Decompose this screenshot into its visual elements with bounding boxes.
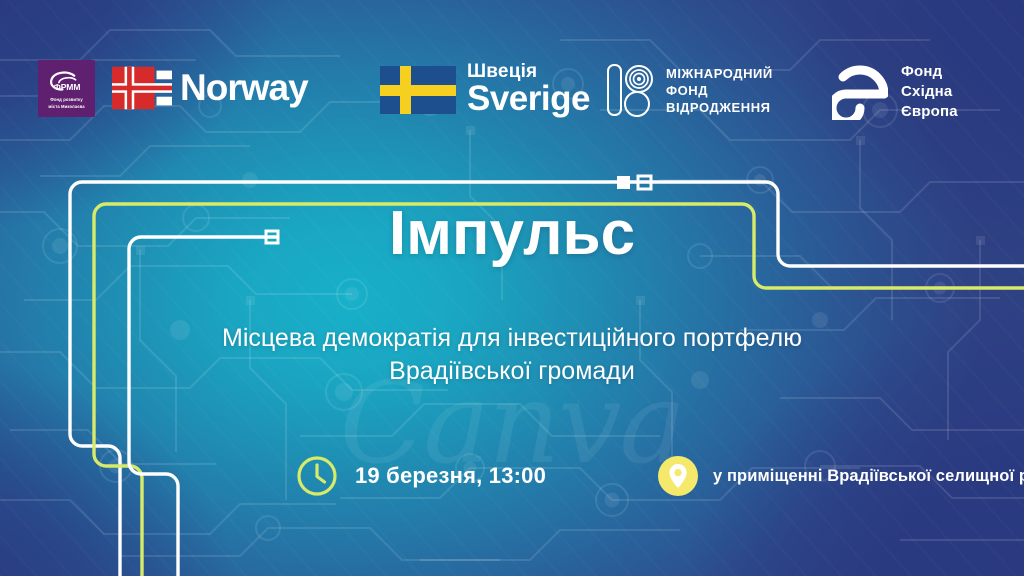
event-date-text: 19 березня, 13:00 xyxy=(355,463,546,489)
east-europe-foundation-logo: Фонд Східна Європа xyxy=(832,62,958,122)
subtitle-line2: Врадіївської громади xyxy=(389,357,635,385)
clock-icon xyxy=(296,455,338,497)
frmm-caption-line1: Фонд розвитку xyxy=(50,97,83,103)
trace-terminal-filled xyxy=(617,176,630,189)
eef-line1: Фонд xyxy=(901,62,958,82)
eef-line3: Європа xyxy=(901,102,958,122)
event-poster: Canva ФРММ Фонд розвитку міста Миколаєва xyxy=(0,0,1024,576)
irf-line3: ВІДРОДЖЕННЯ xyxy=(666,99,773,116)
frmm-logo: ФРММ Фонд розвитку міста Миколаєва xyxy=(38,60,95,117)
norway-logo: Norway xyxy=(112,66,308,110)
trace-white-inner xyxy=(129,237,276,576)
frmm-mark-text: ФРММ xyxy=(53,82,80,92)
irf-line2: ФОНД xyxy=(666,82,773,99)
event-info-row: 19 березня, 13:00 у приміщенні Врадіївсь… xyxy=(0,455,1024,515)
irf-mark-icon xyxy=(606,62,654,118)
sweden-logo: Швеція Sverige xyxy=(380,62,590,117)
norway-flag-icon xyxy=(112,66,172,110)
frmm-logo-box: ФРММ Фонд розвитку міста Миколаєва xyxy=(38,60,95,117)
event-place-text: у приміщенні Врадіївської селищної ради xyxy=(713,467,1024,486)
frmm-caption-line2: міста Миколаєва xyxy=(48,104,84,110)
sweden-flag-icon xyxy=(380,66,456,114)
eef-e-mark-icon xyxy=(832,64,888,120)
norway-wordmark: Norway xyxy=(180,67,308,109)
map-pin-icon xyxy=(657,455,699,497)
subtitle-line1: Місцева демократія для інвестиційного по… xyxy=(222,324,802,352)
irf-line1: МІЖНАРОДНИЙ xyxy=(666,65,773,82)
page-title: Імпульс xyxy=(0,203,1024,265)
frmm-swirl-icon: ФРММ xyxy=(47,70,87,96)
event-date-item: 19 березня, 13:00 xyxy=(296,455,546,497)
sweden-line2: Sverige xyxy=(467,81,590,117)
irf-wordmark: МІЖНАРОДНИЙ ФОНД ВІДРОДЖЕННЯ xyxy=(666,65,773,116)
event-place-item: у приміщенні Врадіївської селищної ради xyxy=(657,455,1024,497)
page-subtitle: Місцева демократія для інвестиційного по… xyxy=(0,322,1024,388)
sweden-wordmark: Швеція Sverige xyxy=(467,62,590,117)
international-renaissance-foundation-logo: МІЖНАРОДНИЙ ФОНД ВІДРОДЖЕННЯ xyxy=(606,62,773,118)
partner-logos-row: ФРММ Фонд розвитку міста Миколаєва Norwa… xyxy=(0,26,1024,106)
eef-line2: Східна xyxy=(901,82,958,102)
eef-wordmark: Фонд Східна Європа xyxy=(901,62,958,122)
